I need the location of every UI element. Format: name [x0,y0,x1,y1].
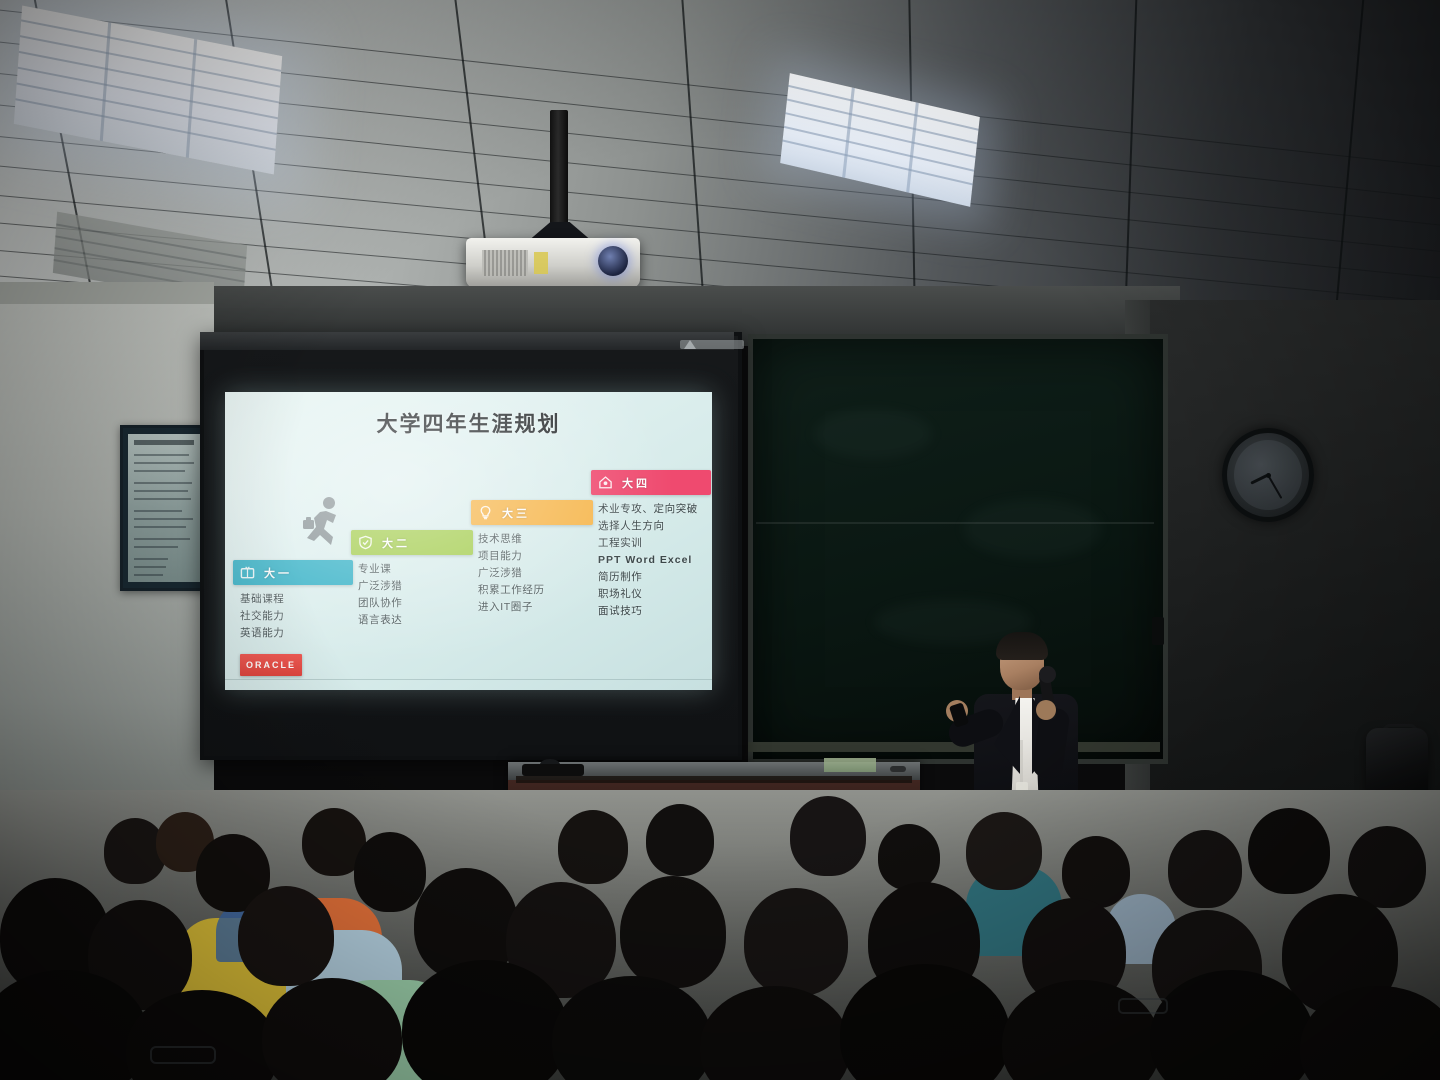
list-item: 术业专攻、定向突破 [598,501,711,518]
clock-minute-hand [1267,475,1282,499]
projector-vent [482,250,528,276]
step-label-year2: 大二 [382,535,410,551]
ceiling-light-left [14,6,282,175]
glasses-icon [1118,998,1168,1014]
list-item: 积累工作经历 [478,582,593,599]
wall-clock [1222,428,1314,522]
slide-step-year3: 大三 技术思维 项目能力 广泛涉猎 积累工作经历 进入IT圈子 [471,500,593,616]
lightbulb-icon [478,505,493,520]
list-item: 广泛涉猎 [478,565,593,582]
lectern-tray [522,764,584,776]
slide-step-year4: 大四 术业专攻、定向突破 选择人生方向 工程实训 PPT Word Excel … [591,470,711,620]
list-item: PPT Word Excel [598,552,711,569]
lectern-edge [516,776,912,783]
projector-sticker [534,252,548,274]
step-items-year1: 基础课程 社交能力 英语能力 [233,591,353,642]
list-item: 工程实训 [598,535,711,552]
running-person-icon [300,496,346,548]
portable-pa-speaker [1366,728,1428,798]
projector-lens-icon [598,246,628,276]
glasses-icon [150,1046,216,1064]
screen-top-rail [200,332,734,350]
step-items-year2: 专业课 广泛涉猎 团队协作 语言表达 [351,561,473,629]
list-item: 选择人生方向 [598,518,711,535]
list-item: 项目能力 [478,548,593,565]
shield-icon [358,535,373,550]
slide-title: 大学四年生涯规划 [225,408,712,438]
wall-hook [1152,617,1164,645]
step-items-year3: 技术思维 项目能力 广泛涉猎 积累工作经历 进入IT圈子 [471,531,593,616]
step-label-year3: 大三 [502,505,530,521]
step-label-year1: 大一 [264,565,292,581]
book-icon [240,565,255,580]
slide-step-year2: 大二 专业课 广泛涉猎 团队协作 语言表达 [351,530,473,629]
wall-notice-board [120,425,208,591]
lectern-papers [824,758,876,772]
list-item: 技术思维 [478,531,593,548]
step-label-year4: 大四 [622,475,650,491]
list-item: 专业课 [358,561,473,578]
classroom-photo: 大学四年生涯规划 大一 基础课程 社交能力 英语能力 [0,0,1440,1080]
oracle-logo-text: ORACLE [246,660,296,670]
list-item: 进入IT圈子 [478,599,593,616]
screen-brand-triangle-icon [684,340,696,349]
home-icon [598,475,613,490]
list-item: 广泛涉猎 [358,578,473,595]
slide-step-year1: 大一 基础课程 社交能力 英语能力 [233,560,353,642]
list-item: 团队协作 [358,595,473,612]
list-item: 面试技巧 [598,603,711,620]
list-item: 基础课程 [240,591,353,608]
projector-mount-pole [550,110,568,230]
list-item: 简历制作 [598,569,711,586]
lectern-small-object [890,766,906,772]
list-item: 语言表达 [358,612,473,629]
left-wall-trim [0,282,214,304]
ceiling [0,0,1440,320]
projected-slide: 大学四年生涯规划 大一 基础课程 社交能力 英语能力 [225,392,712,690]
list-item: 社交能力 [240,608,353,625]
list-item: 英语能力 [240,625,353,642]
oracle-logo: ORACLE [240,654,302,676]
list-item: 职场礼仪 [598,586,711,603]
step-items-year4: 术业专攻、定向突破 选择人生方向 工程实训 PPT Word Excel 简历制… [591,501,711,620]
audience-rows [0,790,1440,1080]
blackboard-seam [756,522,1154,524]
